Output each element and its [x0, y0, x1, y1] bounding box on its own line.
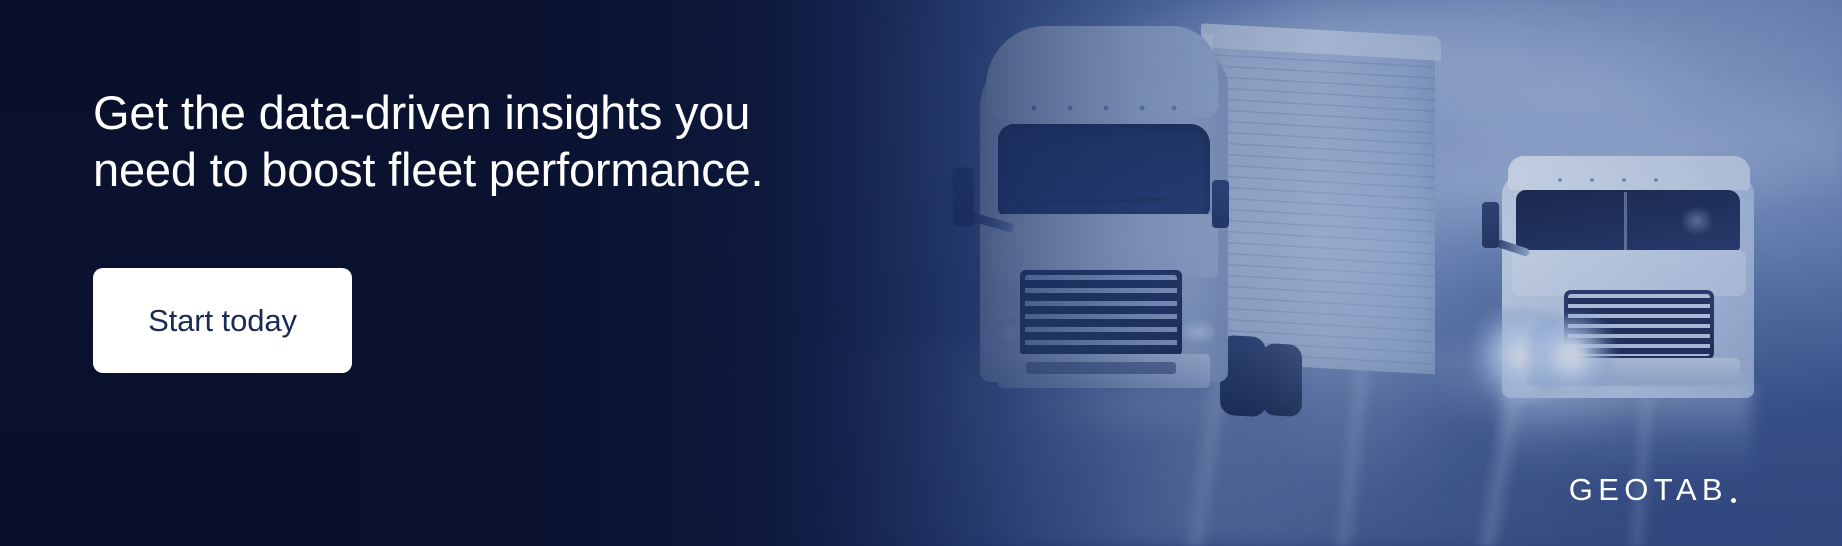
- promo-banner: 53: [0, 0, 1842, 546]
- banner-content: Get the data-driven insights you need to…: [93, 0, 853, 546]
- geotab-logo: GEOTAB: [1569, 474, 1736, 505]
- headline: Get the data-driven insights you need to…: [93, 84, 833, 198]
- geotab-logo-text: GEOTAB: [1569, 474, 1728, 505]
- headline-line-2: need to boost fleet performance.: [93, 141, 833, 198]
- start-today-button-label: Start today: [148, 303, 297, 339]
- start-today-button[interactable]: Start today: [93, 268, 352, 373]
- headline-line-1: Get the data-driven insights you: [93, 84, 833, 141]
- geotab-logo-dot: [1731, 498, 1736, 503]
